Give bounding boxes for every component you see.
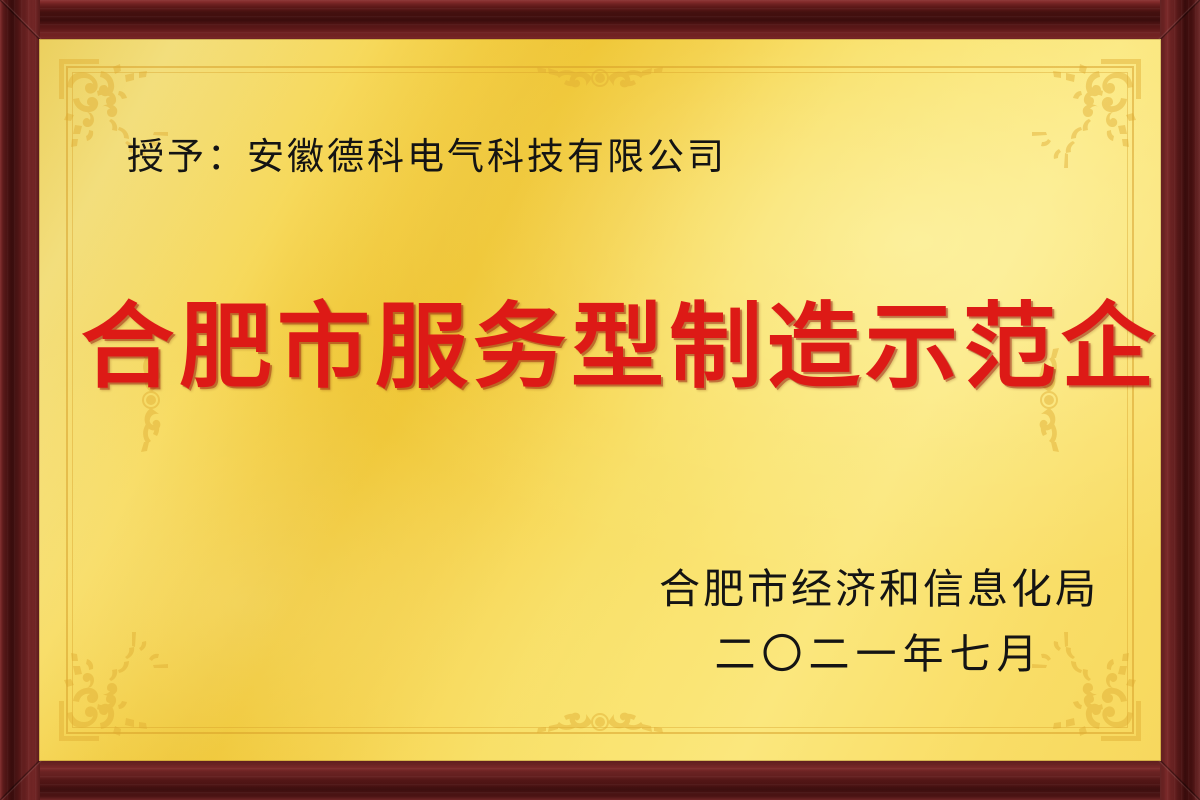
frame-rail-bottom bbox=[0, 760, 1200, 800]
frame-rail-top bbox=[0, 0, 1200, 40]
plaque-text-layer: 授予：安徽德科电气科技有限公司 合肥市服务型制造示范企业 合肥市经济和信息化局 … bbox=[39, 39, 1161, 761]
wood-grain-texture bbox=[0, 760, 1200, 800]
award-plaque: 授予：安徽德科电气科技有限公司 合肥市服务型制造示范企业 合肥市经济和信息化局 … bbox=[0, 0, 1200, 800]
award-title: 合肥市服务型制造示范企业 bbox=[81, 301, 1119, 394]
issuer-block: 合肥市经济和信息化局 二〇二一年七月 bbox=[659, 564, 1099, 681]
recipient-line: 授予：安徽德科电气科技有限公司 bbox=[127, 135, 727, 179]
frame-rail-left bbox=[0, 0, 40, 800]
issue-date: 二〇二一年七月 bbox=[659, 629, 1099, 680]
frame-rail-right bbox=[1160, 0, 1200, 800]
wood-grain-texture bbox=[0, 0, 40, 800]
gold-plate: 授予：安徽德科电气科技有限公司 合肥市服务型制造示范企业 合肥市经济和信息化局 … bbox=[39, 39, 1161, 761]
wood-grain-texture bbox=[1160, 0, 1200, 800]
issuing-authority: 合肥市经济和信息化局 bbox=[659, 564, 1099, 615]
wood-grain-texture bbox=[0, 0, 1200, 40]
